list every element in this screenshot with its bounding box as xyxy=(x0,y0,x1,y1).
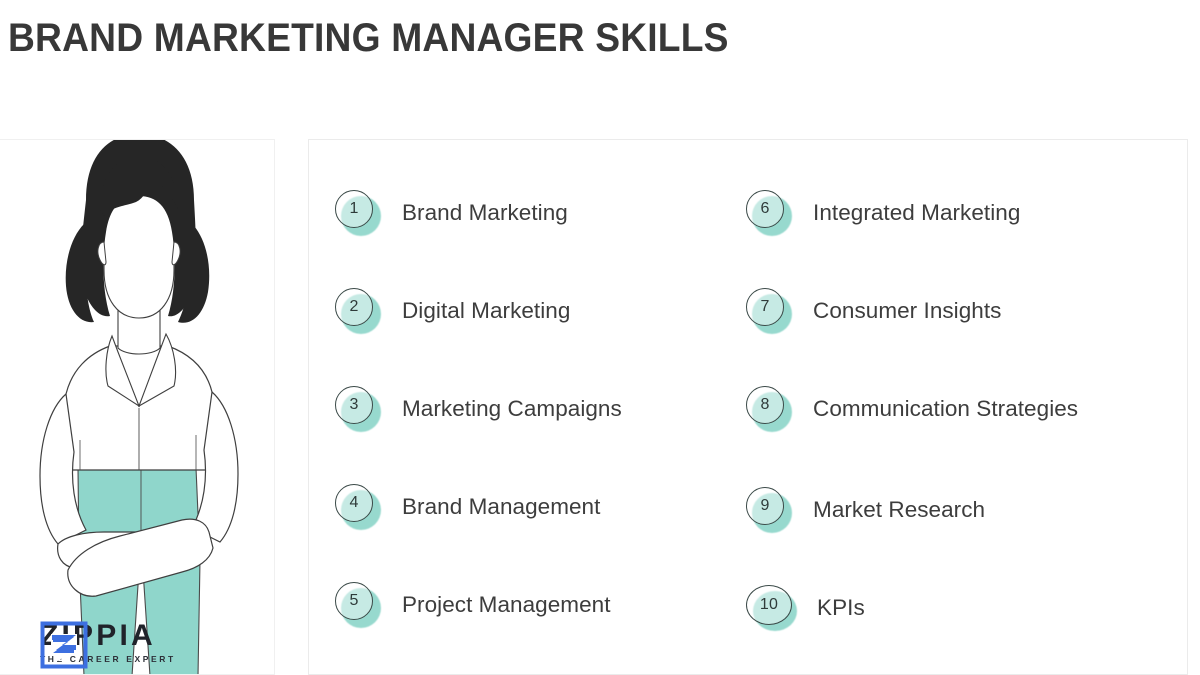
skill-badge-1: 1 xyxy=(335,190,381,236)
badge-ring: 5 xyxy=(335,582,373,620)
zippia-z-mark-icon xyxy=(40,621,88,669)
badge-number: 5 xyxy=(349,593,358,609)
skill-label-2: Digital Marketing xyxy=(402,298,570,324)
skills-grid: 1 Brand Marketing 2 Digital Marketing xyxy=(309,140,1187,674)
skill-item-10[interactable]: 10 KPIs xyxy=(746,585,865,631)
skill-item-7[interactable]: 7 Consumer Insights xyxy=(746,288,1001,334)
skills-column-left: 1 Brand Marketing 2 Digital Marketing xyxy=(309,140,733,674)
badge-ring: 4 xyxy=(335,484,373,522)
skill-badge-6: 6 xyxy=(746,190,792,236)
skill-label-4: Brand Management xyxy=(402,494,600,520)
badge-ring: 10 xyxy=(746,585,792,625)
skill-item-8[interactable]: 8 Communication Strategies xyxy=(746,386,1078,432)
skill-label-8: Communication Strategies xyxy=(813,396,1078,422)
badge-number: 9 xyxy=(760,498,769,514)
skills-column-right: 6 Integrated Marketing 7 Consumer Insigh… xyxy=(733,140,1187,674)
skill-item-6[interactable]: 6 Integrated Marketing xyxy=(746,190,1020,236)
skill-badge-8: 8 xyxy=(746,386,792,432)
skill-item-3[interactable]: 3 Marketing Campaigns xyxy=(335,386,622,432)
badge-ring: 9 xyxy=(746,487,784,525)
skill-label-9: Market Research xyxy=(813,497,985,523)
badge-number: 10 xyxy=(760,597,778,613)
skill-label-6: Integrated Marketing xyxy=(813,200,1020,226)
skill-label-3: Marketing Campaigns xyxy=(402,396,622,422)
badge-number: 1 xyxy=(349,201,358,217)
skill-badge-5: 5 xyxy=(335,582,381,628)
page-title: BRAND MARKETING MANAGER SKILLS xyxy=(8,14,729,62)
badge-ring: 7 xyxy=(746,288,784,326)
badge-number: 3 xyxy=(349,397,358,413)
badge-ring: 8 xyxy=(746,386,784,424)
zippia-logo[interactable]: ZIPPIA THE CAREER EXPERT xyxy=(40,621,176,666)
badge-ring: 6 xyxy=(746,190,784,228)
badge-number: 8 xyxy=(760,397,769,413)
skill-item-5[interactable]: 5 Project Management xyxy=(335,582,611,628)
skill-badge-4: 4 xyxy=(335,484,381,530)
badge-number: 2 xyxy=(349,299,358,315)
skill-badge-3: 3 xyxy=(335,386,381,432)
skill-badge-10: 10 xyxy=(746,585,796,631)
badge-ring: 2 xyxy=(335,288,373,326)
skill-badge-2: 2 xyxy=(335,288,381,334)
skills-panel: 1 Brand Marketing 2 Digital Marketing xyxy=(308,139,1188,675)
badge-ring: 3 xyxy=(335,386,373,424)
badge-ring: 1 xyxy=(335,190,373,228)
skill-label-1: Brand Marketing xyxy=(402,200,568,226)
skill-item-2[interactable]: 2 Digital Marketing xyxy=(335,288,570,334)
skill-item-9[interactable]: 9 Market Research xyxy=(746,487,985,533)
skill-label-7: Consumer Insights xyxy=(813,298,1001,324)
skill-badge-7: 7 xyxy=(746,288,792,334)
person-illustration xyxy=(0,140,275,675)
skill-label-10: KPIs xyxy=(817,595,865,621)
skill-label-5: Project Management xyxy=(402,592,611,618)
skill-item-1[interactable]: 1 Brand Marketing xyxy=(335,190,568,236)
skill-badge-9: 9 xyxy=(746,487,792,533)
badge-number: 7 xyxy=(760,299,769,315)
badge-number: 6 xyxy=(760,201,769,217)
illustration-panel: ZIPPIA THE CAREER EXPERT xyxy=(0,139,275,675)
skill-item-4[interactable]: 4 Brand Management xyxy=(335,484,600,530)
badge-number: 4 xyxy=(349,495,358,511)
